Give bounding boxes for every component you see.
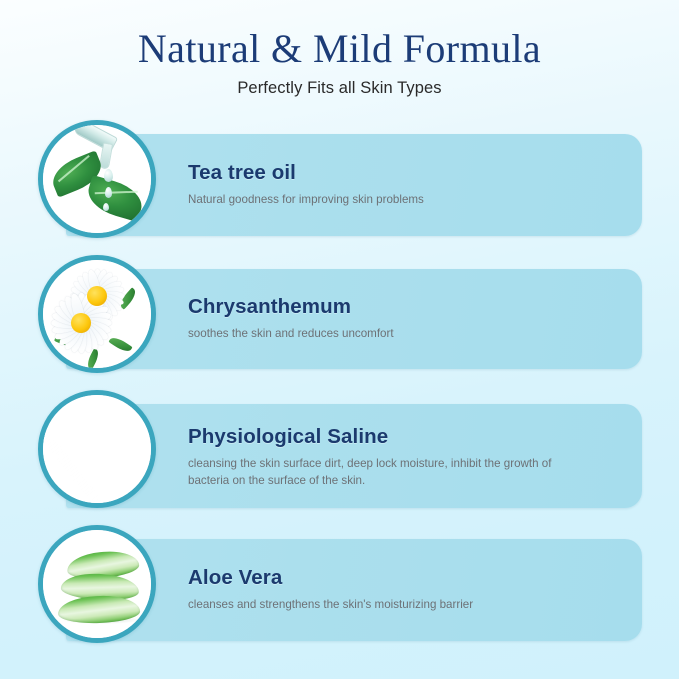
ingredient-list: Tea tree oil Natural goodness for improv… (0, 120, 679, 660)
ingredient-name: Aloe Vera (188, 566, 622, 590)
list-item[interactable]: Physiological Saline cleansing the skin … (0, 390, 679, 525)
header: Natural & Mild Formula Perfectly Fits al… (0, 0, 679, 98)
ocean-foam-wave-icon (38, 390, 156, 508)
flower-center (87, 286, 107, 306)
ingredient-name: Tea tree oil (188, 161, 622, 185)
tea-tree-leaf-dropper-icon (38, 120, 156, 238)
ingredient-card-text: Aloe Vera cleanses and strengthens the s… (188, 539, 622, 641)
aloe-vera-slices-icon (38, 525, 156, 643)
ingredient-card-text: Tea tree oil Natural goodness for improv… (188, 134, 622, 236)
list-item[interactable]: Tea tree oil Natural goodness for improv… (0, 120, 679, 255)
ingredient-card-text: Physiological Saline cleansing the skin … (188, 404, 622, 508)
ingredient-name: Physiological Saline (188, 425, 622, 449)
ingredient-description: cleanses and strengthens the skin's mois… (188, 597, 588, 614)
flower-center (71, 313, 91, 333)
ingredient-card-text: Chrysanthemum soothes the skin and reduc… (188, 269, 622, 369)
ingredient-description: Natural goodness for improving skin prob… (188, 192, 588, 209)
ingredient-description: soothes the skin and reduces uncomfort (188, 326, 588, 343)
page-title: Natural & Mild Formula (0, 26, 679, 72)
list-item[interactable]: Chrysanthemum soothes the skin and reduc… (0, 255, 679, 390)
ingredient-description: cleansing the skin surface dirt, deep lo… (188, 456, 588, 490)
ingredient-name: Chrysanthemum (188, 295, 622, 319)
daisy-flower-icon (38, 255, 156, 373)
page-subtitle: Perfectly Fits all Skin Types (0, 79, 679, 98)
list-item[interactable]: Aloe Vera cleanses and strengthens the s… (0, 525, 679, 660)
